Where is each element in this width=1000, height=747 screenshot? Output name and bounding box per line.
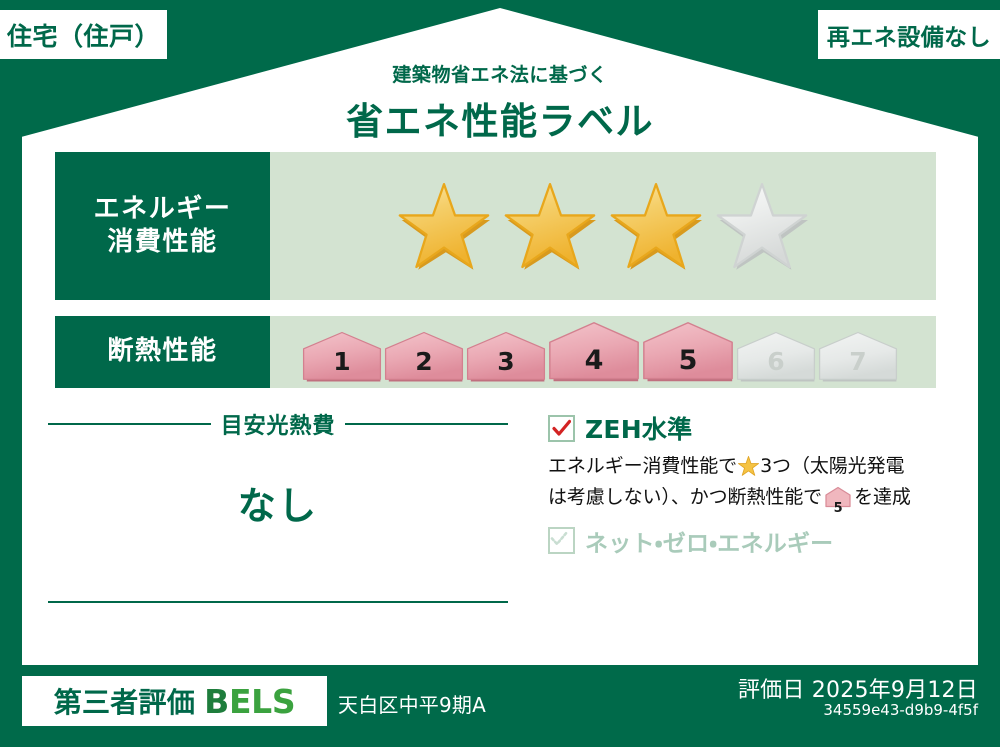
net-zero-energy-label: ネット・ゼロ・エネルギー bbox=[585, 524, 833, 558]
insulation-level-number: 6 bbox=[736, 347, 816, 376]
estimated-utility-cost-value: なし bbox=[48, 475, 508, 530]
evaluation-date: 評価日 2025年9月12日 bbox=[738, 672, 978, 704]
star-body bbox=[400, 184, 488, 267]
bels-wordmark: BELS bbox=[204, 685, 295, 718]
insulation-level-inactive: 7 bbox=[818, 331, 898, 383]
property-name: 天白区中平9期A bbox=[338, 689, 486, 718]
third-party-evaluation-label: 第三者評価 bbox=[54, 681, 195, 721]
bels-letters-els: ELS bbox=[229, 682, 295, 721]
net-zero-energy-row: ネット・ゼロ・エネルギー bbox=[548, 524, 940, 558]
insulation-level-number: 7 bbox=[818, 347, 898, 376]
bels-letter-b: B bbox=[204, 682, 229, 721]
cost-heading-text: 目安光熱費 bbox=[221, 408, 335, 440]
insulation-level-number: 5 bbox=[642, 345, 734, 376]
insulation-level-active: 5 bbox=[642, 321, 734, 383]
energy-label-line2: 消費性能 bbox=[107, 226, 217, 259]
page-title: 建築物省エネ法に基づく 省エネ性能ラベル bbox=[0, 60, 1000, 145]
insulation-scale: 1234567 bbox=[270, 316, 936, 388]
star-body bbox=[612, 184, 700, 267]
insulation-performance-row: 断熱性能 1234567 bbox=[55, 316, 936, 388]
tag-building-type: 住宅（住戸） bbox=[0, 10, 167, 59]
star-empty-icon bbox=[716, 182, 808, 270]
insulation-level-active: 3 bbox=[466, 331, 546, 383]
bels-logo-box: 第三者評価 BELS bbox=[22, 676, 327, 726]
zeh-heading: ZEH水準 bbox=[548, 410, 940, 446]
zeh-desc-stars: 3つ（太陽光発電 bbox=[760, 455, 904, 477]
zeh-section: ZEH水準 エネルギー消費性能で 3つ（太陽光発電 は考慮しない）、かつ断熱性能… bbox=[548, 410, 940, 558]
insulation-level-active: 1 bbox=[302, 331, 382, 383]
zeh-checkbox[interactable] bbox=[548, 415, 575, 442]
insulation-level-number: 3 bbox=[466, 347, 546, 376]
star-body bbox=[506, 184, 594, 267]
check-icon bbox=[552, 419, 571, 438]
inline-house-badge: 5 bbox=[825, 486, 851, 516]
insulation-level-active: 2 bbox=[384, 331, 464, 383]
insulation-label-text: 断熱性能 bbox=[107, 335, 217, 368]
insulation-level-number: 1 bbox=[302, 347, 382, 376]
star-filled-icon bbox=[398, 182, 490, 270]
inline-star-icon bbox=[738, 456, 759, 484]
zeh-desc-part3: を達成 bbox=[854, 486, 911, 508]
zeh-desc-part2: は考慮しない）、かつ断熱性能で bbox=[548, 486, 822, 508]
insulation-level-active: 4 bbox=[548, 321, 640, 383]
energy-performance-label: エネルギー 消費性能 bbox=[55, 152, 270, 300]
insulation-house-badges: 1234567 bbox=[302, 321, 900, 383]
estimated-utility-cost-heading: 目安光熱費 bbox=[48, 408, 508, 440]
star-filled-icon bbox=[610, 182, 702, 270]
insulation-level-inactive: 6 bbox=[736, 331, 816, 383]
energy-label-root: 住宅（住戸） 再エネ設備なし 建築物省エネ法に基づく 省エネ性能ラベル エネルギ… bbox=[0, 0, 1000, 747]
star-body bbox=[718, 184, 806, 267]
heading-rule-left bbox=[48, 423, 211, 425]
energy-performance-row: エネルギー 消費性能 bbox=[55, 152, 936, 300]
star-rating bbox=[270, 152, 936, 300]
net-zero-checkbox[interactable] bbox=[548, 527, 575, 554]
title-subtitle: 建築物省エネ法に基づく bbox=[0, 60, 1000, 87]
insulation-level-number: 2 bbox=[384, 347, 464, 376]
zeh-title: ZEH水準 bbox=[585, 410, 692, 446]
insulation-performance-label: 断熱性能 bbox=[55, 316, 270, 388]
zeh-desc-part1: エネルギー消費性能で bbox=[548, 455, 737, 477]
cost-bottom-rule bbox=[48, 601, 508, 603]
star-filled-icon bbox=[504, 182, 596, 270]
inline-house-value: 5 bbox=[825, 502, 851, 515]
tag-renewable-energy: 再エネ設備なし bbox=[818, 10, 1000, 59]
check-icon-faded bbox=[550, 529, 569, 548]
heading-rule-right bbox=[345, 423, 508, 425]
zeh-description: エネルギー消費性能で 3つ（太陽光発電 は考慮しない）、かつ断熱性能で 5を達成 bbox=[548, 453, 940, 516]
title-main: 省エネ性能ラベル bbox=[0, 91, 1000, 145]
insulation-level-number: 4 bbox=[548, 345, 640, 376]
evaluation-id: 34559e43-d9b9-4f5f bbox=[823, 701, 978, 719]
energy-label-line1: エネルギー bbox=[94, 193, 232, 226]
